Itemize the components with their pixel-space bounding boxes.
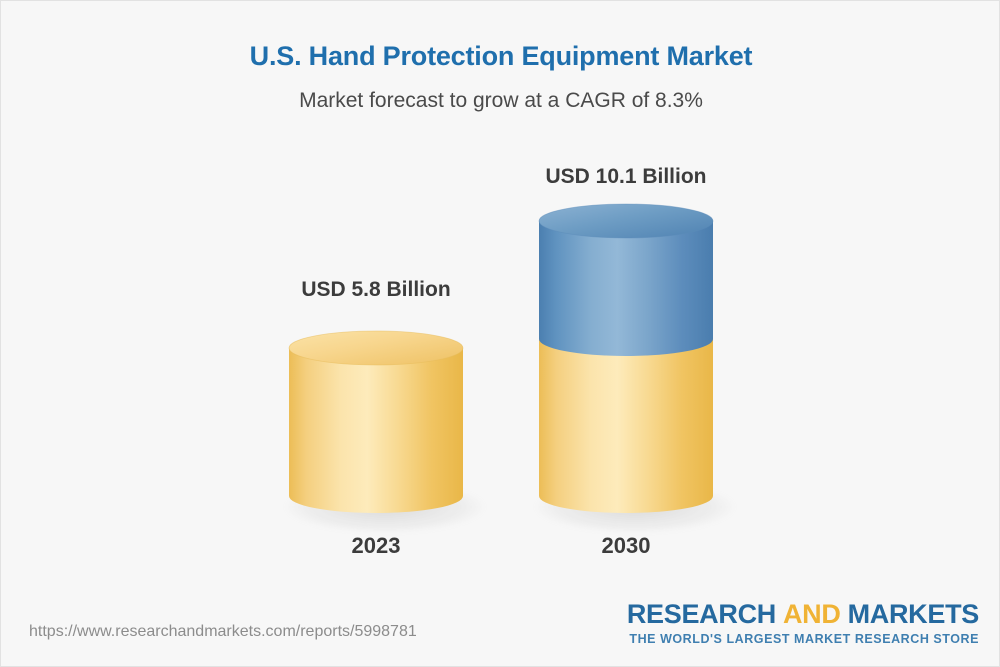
bar-2023-cylinder bbox=[289, 331, 463, 513]
bar-2023 bbox=[289, 331, 463, 513]
category-label-2030: 2030 bbox=[526, 533, 726, 559]
bar-2030 bbox=[539, 204, 713, 513]
chart-title: U.S. Hand Protection Equipment Market bbox=[1, 41, 1000, 72]
chart-canvas: U.S. Hand Protection Equipment Market Ma… bbox=[0, 0, 1000, 667]
logo-tagline: THE WORLD'S LARGEST MARKET RESEARCH STOR… bbox=[627, 633, 979, 646]
value-label-2030: USD 10.1 Billion bbox=[526, 165, 726, 189]
source-url[interactable]: https://www.researchandmarkets.com/repor… bbox=[29, 623, 417, 641]
logo-wordmark: RESEARCHANDMARKETS bbox=[627, 601, 979, 628]
research-and-markets-logo[interactable]: RESEARCHANDMARKETS THE WORLD'S LARGEST M… bbox=[627, 601, 979, 646]
category-label-2023: 2023 bbox=[276, 533, 476, 559]
logo-word-markets: MARKETS bbox=[848, 599, 979, 629]
bar-2030-cylinder bbox=[539, 204, 713, 513]
logo-word-and: AND bbox=[783, 599, 841, 629]
chart-subtitle: Market forecast to grow at a CAGR of 8.3… bbox=[1, 89, 1000, 113]
value-label-2023: USD 5.8 Billion bbox=[276, 278, 476, 302]
logo-word-research: RESEARCH bbox=[627, 599, 776, 629]
